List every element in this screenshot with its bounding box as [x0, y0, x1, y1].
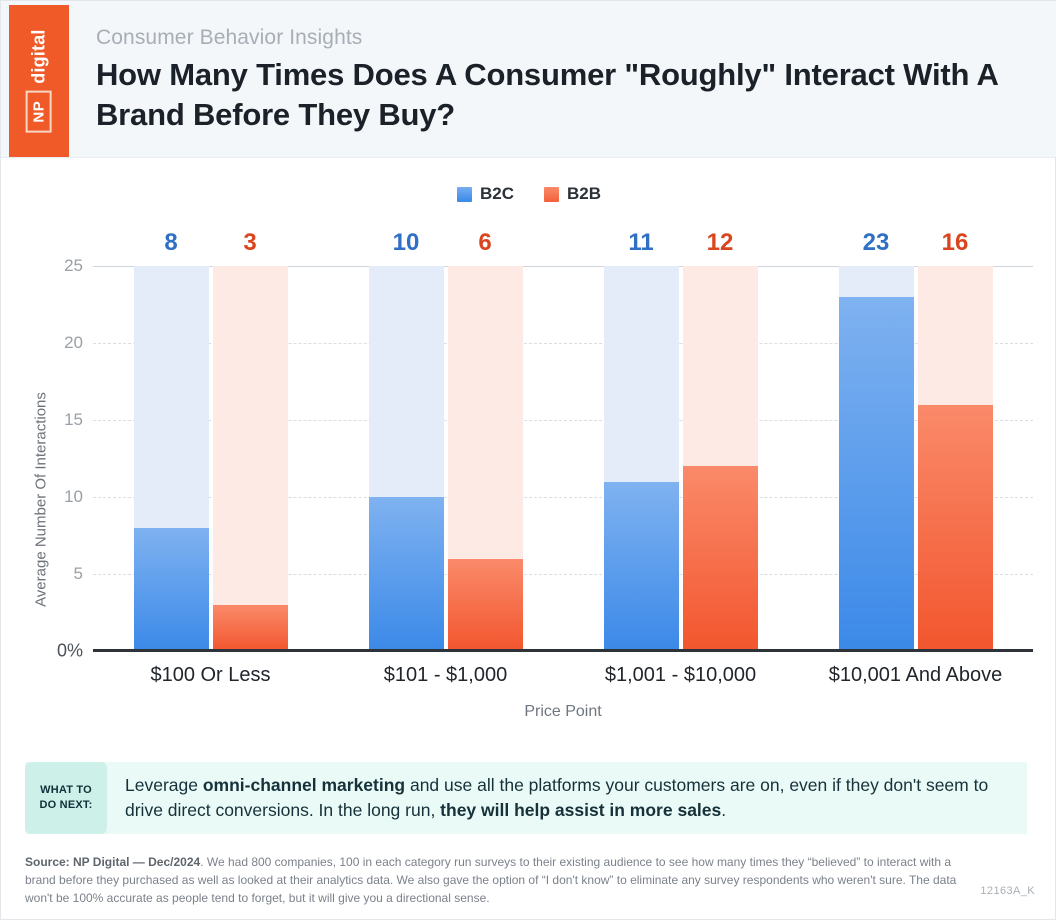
bar-groups: 8310611122316	[93, 266, 1033, 651]
bar-track-b2b	[213, 266, 288, 651]
bar-slot-b2b: 16	[918, 266, 993, 651]
infographic-page: NP digital Consumer Behavior Insights Ho…	[0, 0, 1056, 920]
bar-value-label-b2c: 8	[134, 229, 209, 257]
legend-label-b2c: B2C	[480, 184, 514, 204]
callout-text-bold2: they will help assist in more sales	[440, 800, 721, 820]
y-tick-label: 15	[27, 410, 83, 430]
page-title: How Many Times Does A Consumer "Roughly"…	[96, 55, 1026, 134]
bar-slot-b2c: 10	[369, 266, 444, 651]
bar-b2b[interactable]	[213, 605, 288, 651]
y-tick-label: 25	[27, 256, 83, 276]
legend-swatch-b2b-icon	[544, 187, 559, 202]
bar-slot-b2b: 12	[683, 266, 758, 651]
y-tick-label: 10	[27, 487, 83, 507]
bar-value-label-b2b: 12	[683, 229, 758, 257]
bar-value-label-b2c: 10	[369, 229, 444, 257]
bar-group: 106	[328, 266, 563, 651]
bar-group: 83	[93, 266, 328, 651]
header: NP digital Consumer Behavior Insights Ho…	[1, 1, 1056, 158]
y-tick-label: 0%	[27, 641, 83, 662]
bar-value-label-b2b: 6	[448, 229, 523, 257]
eyebrow-text: Consumer Behavior Insights	[96, 26, 362, 50]
bar-group: 1112	[563, 266, 798, 651]
y-tick-label: 5	[27, 564, 83, 584]
bar-b2c[interactable]	[839, 297, 914, 651]
callout-badge: WHAT TO DO NEXT:	[25, 762, 107, 834]
x-tick-label: $100 Or Less	[93, 664, 328, 687]
x-axis-title: Price Point	[93, 703, 1033, 721]
bar-b2c[interactable]	[369, 497, 444, 651]
bar-value-label-b2c: 23	[839, 229, 914, 257]
bar-slot-b2c: 8	[134, 266, 209, 651]
chart-legend: B2C B2B	[1, 184, 1056, 204]
callout-text: Leverage omni-channel marketing and use …	[107, 773, 1027, 823]
x-tick-label: $1,001 - $10,000	[563, 664, 798, 687]
x-tick-label: $10,001 And Above	[798, 664, 1033, 687]
bar-b2b[interactable]	[448, 559, 523, 651]
callout-text-bold1: omni-channel marketing	[203, 775, 405, 795]
callout-text-part1: Leverage	[125, 775, 203, 795]
legend-swatch-b2c-icon	[457, 187, 472, 202]
bar-value-label-b2c: 11	[604, 229, 679, 257]
bar-b2c[interactable]	[134, 528, 209, 651]
legend-label-b2b: B2B	[567, 184, 601, 204]
y-tick-label: 20	[27, 333, 83, 353]
np-digital-logo: NP digital	[9, 5, 69, 157]
plot-area: 0%510152025 8310611122316	[93, 266, 1033, 651]
x-axis-line	[93, 649, 1033, 652]
source-footnote: Source: NP Digital — Dec/2024. We had 80…	[25, 854, 965, 907]
legend-item-b2b[interactable]: B2B	[544, 184, 601, 204]
callout-badge-line1: WHAT TO	[40, 783, 92, 798]
logo-np-mark: NP	[26, 91, 52, 133]
asset-id: 12163A_K	[980, 885, 1035, 897]
bar-value-label-b2b: 16	[918, 229, 993, 257]
logo-inner: NP digital	[26, 29, 52, 132]
bar-value-label-b2b: 3	[213, 229, 288, 257]
bar-b2b[interactable]	[918, 405, 993, 651]
bar-group: 2316	[798, 266, 1033, 651]
x-axis-labels: $100 Or Less$101 - $1,000$1,001 - $10,00…	[93, 664, 1033, 687]
callout-badge-line2: DO NEXT:	[40, 798, 93, 813]
what-to-do-next-callout: WHAT TO DO NEXT: Leverage omni-channel m…	[25, 762, 1027, 834]
logo-digital-word: digital	[29, 29, 50, 83]
x-tick-label: $101 - $1,000	[328, 664, 563, 687]
bar-slot-b2b: 3	[213, 266, 288, 651]
legend-item-b2c[interactable]: B2C	[457, 184, 514, 204]
bar-slot-b2b: 6	[448, 266, 523, 651]
bar-slot-b2c: 23	[839, 266, 914, 651]
bar-slot-b2c: 11	[604, 266, 679, 651]
source-label: Source: NP Digital — Dec/2024	[25, 855, 200, 869]
bar-b2c[interactable]	[604, 482, 679, 651]
callout-text-part3: .	[721, 800, 726, 820]
bar-b2b[interactable]	[683, 466, 758, 651]
bar-chart: Average Number Of Interactions 0%5101520…	[1, 221, 1056, 731]
